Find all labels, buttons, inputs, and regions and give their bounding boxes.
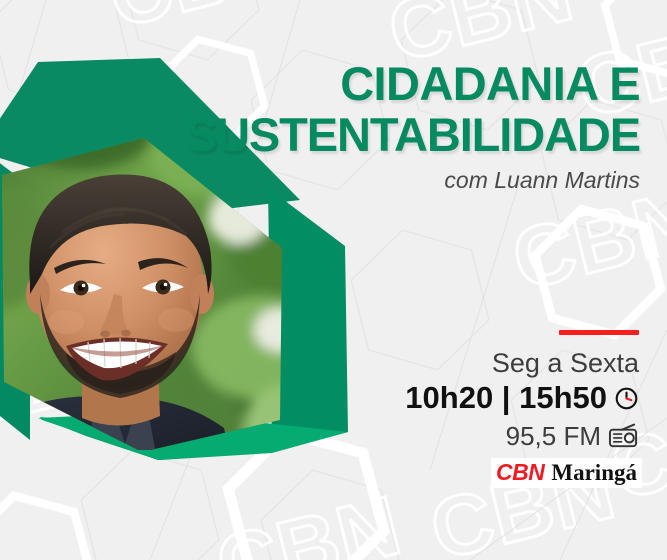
program-promo-card: CBN	[0, 0, 667, 560]
schedule-times-row: 10h20 | 15h50	[309, 379, 639, 417]
program-host: com Luann Martins	[120, 166, 640, 194]
clock-icon	[614, 386, 639, 411]
station-logo: CBN Maringá	[491, 458, 642, 488]
schedule-frequency: 95,5 FM	[506, 419, 601, 453]
radio-icon	[608, 423, 639, 449]
station-city: Maringá	[551, 460, 637, 485]
red-divider-rule	[559, 330, 639, 335]
station-brand: CBN	[496, 460, 544, 485]
program-title-block: CIDADANIA E SUSTENTABILIDADE com Luann M…	[120, 58, 640, 194]
schedule-frequency-row: 95,5 FM	[309, 419, 639, 453]
schedule-block: Seg a Sexta 10h20 | 15h50 95,5 FM	[309, 330, 639, 453]
schedule-days: Seg a Sexta	[309, 347, 639, 379]
schedule-times: 10h20 | 15h50	[405, 379, 607, 417]
program-title-line-2: SUSTENTABILIDADE	[120, 109, 640, 160]
program-title-line-1: CIDADANIA E	[120, 58, 640, 109]
